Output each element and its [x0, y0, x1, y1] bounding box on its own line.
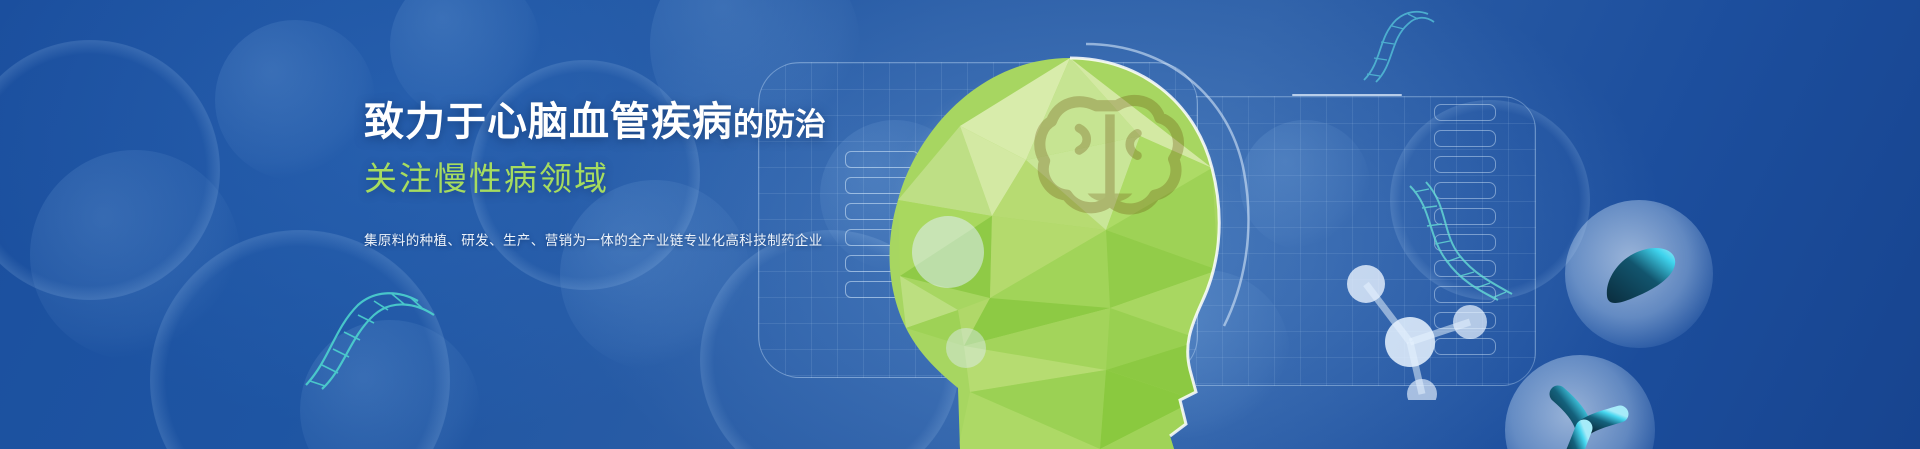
headline-tail: 的防治: [733, 107, 826, 142]
page-title: 致力于心脑血管疾病的防治: [364, 96, 794, 151]
polygonal-head-graphic: [840, 40, 1260, 449]
y-shaped-bacterium-icon: [1528, 372, 1638, 449]
rail-bar: [1434, 130, 1496, 147]
hero-subline: 关注慢性病领域: [364, 157, 794, 201]
headline-main: 致力于心脑血管疾病: [364, 100, 733, 144]
rail-bar: [1434, 156, 1496, 173]
hero-banner: 致力于心脑血管疾病的防治 关注慢性病领域 集原料的种植、研发、生产、营销为一体的…: [0, 0, 1920, 449]
dna-helix-icon: [300, 285, 440, 395]
head-icon: [840, 40, 1260, 449]
dna-helix-icon: [1356, 6, 1436, 86]
rod-bacterium-icon: [1595, 238, 1687, 310]
rail-bar: [1434, 104, 1496, 121]
panel-tick-right: [1292, 94, 1402, 96]
hero-copy-block: 致力于心脑血管疾病的防治 关注慢性病领域 集原料的种植、研发、生产、营销为一体的…: [364, 96, 794, 249]
dna-helix-icon: [1402, 178, 1517, 308]
bokeh-bubble: [215, 20, 375, 180]
bokeh-bubble: [30, 150, 240, 360]
hero-tagline: 集原料的种植、研发、生产、营销为一体的全产业链专业化高科技制药企业: [364, 229, 794, 249]
bokeh-bubble: [0, 40, 220, 300]
